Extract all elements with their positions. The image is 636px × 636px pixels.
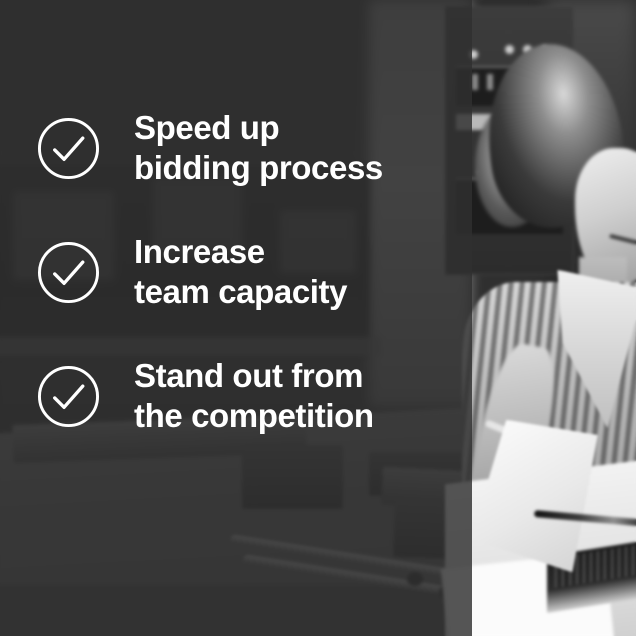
promotional-slide: Speed up bidding process Increase team c… (0, 0, 636, 636)
check-circle-icon (37, 365, 100, 428)
benefit-item-2: Increase team capacity (0, 210, 472, 334)
benefit-item-3: Stand out from the competition (0, 334, 472, 458)
check-circle-icon (37, 117, 100, 180)
check-circle-icon (37, 241, 100, 304)
benefit-label: Stand out from the competition (134, 356, 374, 437)
benefits-list: Speed up bidding process Increase team c… (0, 0, 472, 636)
benefit-label: Speed up bidding process (134, 108, 383, 189)
benefit-label: Increase team capacity (134, 232, 347, 313)
benefit-item-1: Speed up bidding process (0, 86, 472, 210)
